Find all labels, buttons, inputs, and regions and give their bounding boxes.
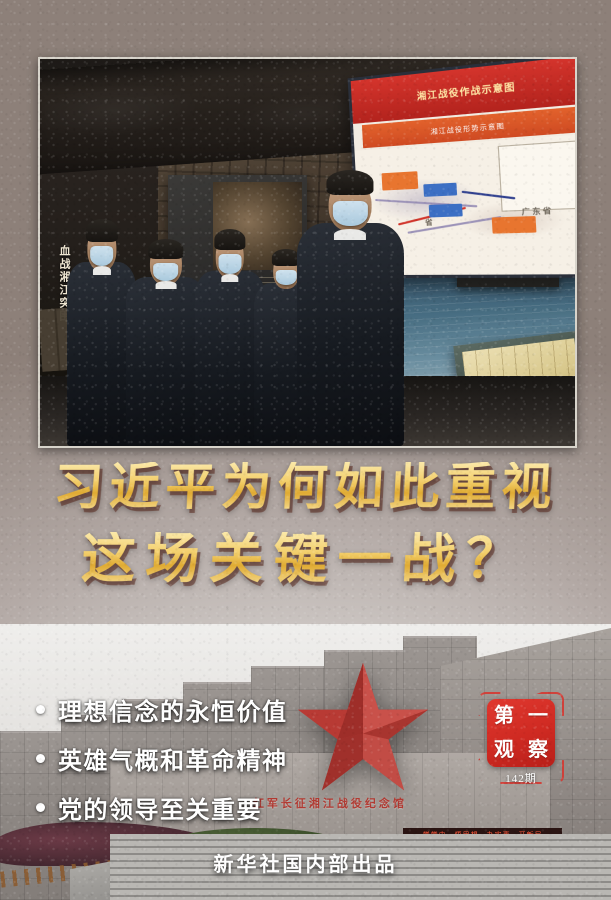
- program-seal-block: 第 一 观 察 142期: [478, 692, 564, 784]
- museum-visit-photo: 血战湘江突围 湘江战役 湘江战役作战示意图 湘江战役形势示意图: [38, 57, 577, 448]
- seal-char-1: 第: [494, 706, 514, 726]
- map-inset: [498, 140, 577, 213]
- headline-line-2: 这场关键一战？: [0, 532, 611, 586]
- headline-block: 习近平为何如此重视 这场关键一战？: [0, 462, 611, 586]
- headline-line-1: 习近平为何如此重视: [0, 462, 611, 512]
- bullet-list: 理想信念的永恒价值 英雄气概和革命精神 党的领导至关重要: [36, 692, 366, 839]
- poster: 血战湘江突围 湘江战役 湘江战役作战示意图 湘江战役形势示意图: [0, 0, 611, 900]
- bullet-dot-icon: [36, 705, 45, 714]
- map-callout-blue-1: [423, 183, 457, 198]
- issue-number: 142期: [478, 770, 564, 786]
- seal-char-3: 观: [494, 740, 514, 760]
- visitor-2: [126, 245, 206, 446]
- seal-char-2: 一: [528, 706, 548, 726]
- bullet-dot-icon: [36, 803, 45, 812]
- bullet-text: 党的领导至关重要: [58, 790, 262, 825]
- map-callout-orange-2: [492, 217, 536, 234]
- bullet-dot-icon: [36, 754, 45, 763]
- visitor-main: [297, 167, 404, 446]
- list-item: 理想信念的永恒价值: [36, 692, 366, 727]
- seal-stamp: 第 一 观 察: [487, 699, 555, 767]
- map-callout-blue-2: [429, 204, 463, 218]
- list-item: 英雄气概和革命精神: [36, 741, 366, 776]
- bullet-text: 英雄气概和革命精神: [58, 741, 288, 776]
- publisher-credit: 新华社国内部出品: [0, 848, 611, 877]
- seal-char-4: 察: [528, 740, 548, 760]
- list-item: 党的领导至关重要: [36, 790, 366, 825]
- map-province-label-2: 省: [425, 218, 435, 229]
- map-province-label: 广东省: [521, 205, 554, 217]
- bullet-text: 理想信念的永恒价值: [58, 692, 288, 727]
